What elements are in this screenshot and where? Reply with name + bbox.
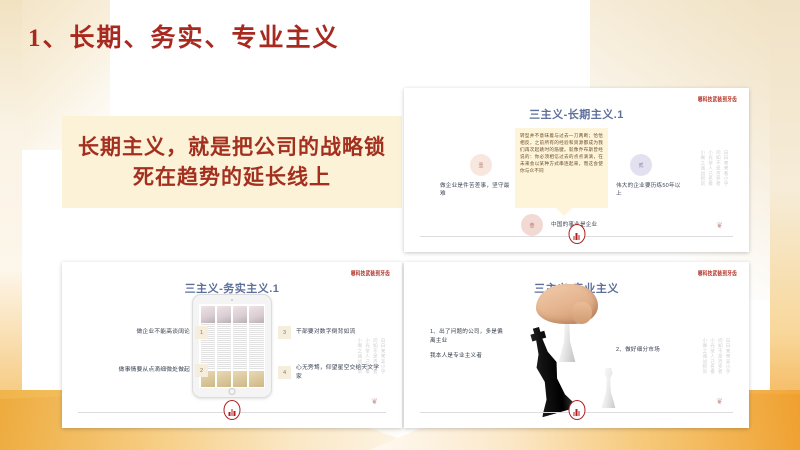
list-item-number: 4 [278,366,291,379]
callout-box-changqi: 转型并不意味着与过去一刀两断；恰恰相反，之前所有的经验和资源都成为我们再次起跳时… [515,128,608,208]
zhuanye-text-1: 1、出了问题的公司，多是偏离主业 [430,328,508,346]
calligraphy-column: 小光堂人己名秦 [710,338,716,374]
quote-panel: 长期主义，就是把公司的战略锁死在趋势的延长线上 [62,116,402,208]
calligraphy-column: 小光堂人己名秦 [365,338,371,374]
list-item-label: 做事情要从点滴细微处做起 [102,366,190,375]
list-item-label: 做企业不能高谈阔论 [102,328,190,337]
background-right-edge [770,0,800,450]
company-logo-icon [568,224,585,244]
background-left-edge [0,0,22,450]
calligraphy-column: 小阁之诚战抓剑 [357,338,363,374]
slide-card-zhuanye[interactable]: 哪科技武装到牙齿 三主义-专业主义 1、出了问题的公司，多是偏离主业 我本人是专… [404,262,749,428]
list-item: 做事情要从点滴细微处做起 2 [102,364,210,377]
bubble-icon-1: 壹 [470,154,492,176]
list-item-number: 2 [195,364,208,377]
calligraphy-column: 白白来来看小乎 [723,150,729,186]
corp-watermark: 哪科技武装到牙齿 [698,96,737,104]
calligraphy-column: 问如不是百岁者 [373,338,379,374]
calligraphy-column: 白白来来美小乎 [380,338,386,374]
calligraphy-column: 小阁之诚战抓剑 [702,338,708,374]
slide-inner-wushi: 哪科技武装到牙齿 三主义-务实主义.1 做企业不能高谈阔论 1 [66,266,398,424]
seal-stamp-icon: ❦ [716,397,723,406]
magazine-column [217,306,232,387]
quote-text: 长期主义，就是把公司的战略锁死在趋势的延长线上 [62,132,402,193]
list-item-number: 1 [195,326,208,339]
bubble-icon-2: 贰 [630,154,652,176]
slide-inner-changqi: 哪科技武装到牙齿 三主义-长期主义.1 转型并不意味着与过去一刀两断；恰恰相反，… [408,92,745,248]
corp-watermark: 哪科技武装到牙齿 [698,270,737,278]
slide-card-changqi[interactable]: 哪科技武装到牙齿 三主义-长期主义.1 转型并不意味着与过去一刀两断；恰恰相反，… [404,88,749,252]
slide-deck-overview: 1、长期、务实、专业主义 长期主义，就是把公司的战略锁死在趋势的延长线上 哪科技… [0,0,800,450]
company-logo-icon [568,400,585,420]
corp-watermark: 哪科技武装到牙齿 [351,270,390,278]
tablet-device-image [192,294,272,398]
node-label-1: 做企业是件苦差事，坚守最难 [440,182,514,199]
hand-icon [536,284,598,324]
zhuanye-text-3: 2、做好细分市场 [616,346,688,355]
calligraphy-watermark: 白白来来美小乎 问如不是百岁者 小光堂人己名秦 小阁之诚战抓剑 [702,338,731,374]
callout-text: 转型并不意味着与过去一刀两断；恰恰相反，之前所有的经验和资源都成为我们再次起跳时… [515,128,608,175]
calligraphy-watermark: 白白来来美小乎 问如不是百岁者 小光堂人己名秦 小阁之诚战抓剑 [357,338,386,374]
list-item-label: 干部要对数字倒背如流 [296,328,384,337]
company-logo-icon [224,400,241,420]
seal-stamp-icon: ❦ [716,221,723,230]
calligraphy-column: 小阁之诚战抓剑 [700,150,706,186]
list-item: 做企业不能高谈阔论 1 [102,326,210,339]
calligraphy-watermark: 白白来来看小乎 问如不是百岁者 小光堂人己名秦 小阁之诚战抓剑 [700,150,729,186]
zhuanye-text-2: 我本人是专业主义者 [430,352,516,361]
calligraphy-column: 问如不是百岁者 [718,338,724,374]
page-title: 1、长期、务实、专业主义 [28,18,340,54]
bubble-icon-3: 叁 [521,214,543,236]
node-label-2: 伟大的企业要历练50年以上 [616,182,686,199]
magazine-column [249,306,264,387]
slide-card-wushi[interactable]: 哪科技武装到牙齿 三主义-务实主义.1 做企业不能高谈阔论 1 [62,262,402,428]
slide-titlebar-changqi: 三主义-长期主义.1 [418,106,735,122]
magazine-column [233,306,248,387]
white-pawn-small-icon [600,368,617,408]
calligraphy-column: 白白来来美小乎 [725,338,731,374]
calligraphy-column: 小光堂人己名秦 [708,150,714,186]
slide-title-changqi: 三主义-长期主义.1 [418,106,735,122]
chess-photo [512,282,632,416]
calligraphy-column: 问如不是百岁者 [716,150,722,186]
slide-inner-zhuanye: 哪科技武装到牙齿 三主义-专业主义 1、出了问题的公司，多是偏离主业 我本人是专… [408,266,745,424]
seal-stamp-icon: ❦ [371,397,378,406]
node-label-3: 中国的事业是企业 [551,221,641,229]
list-item-number: 3 [278,326,291,339]
